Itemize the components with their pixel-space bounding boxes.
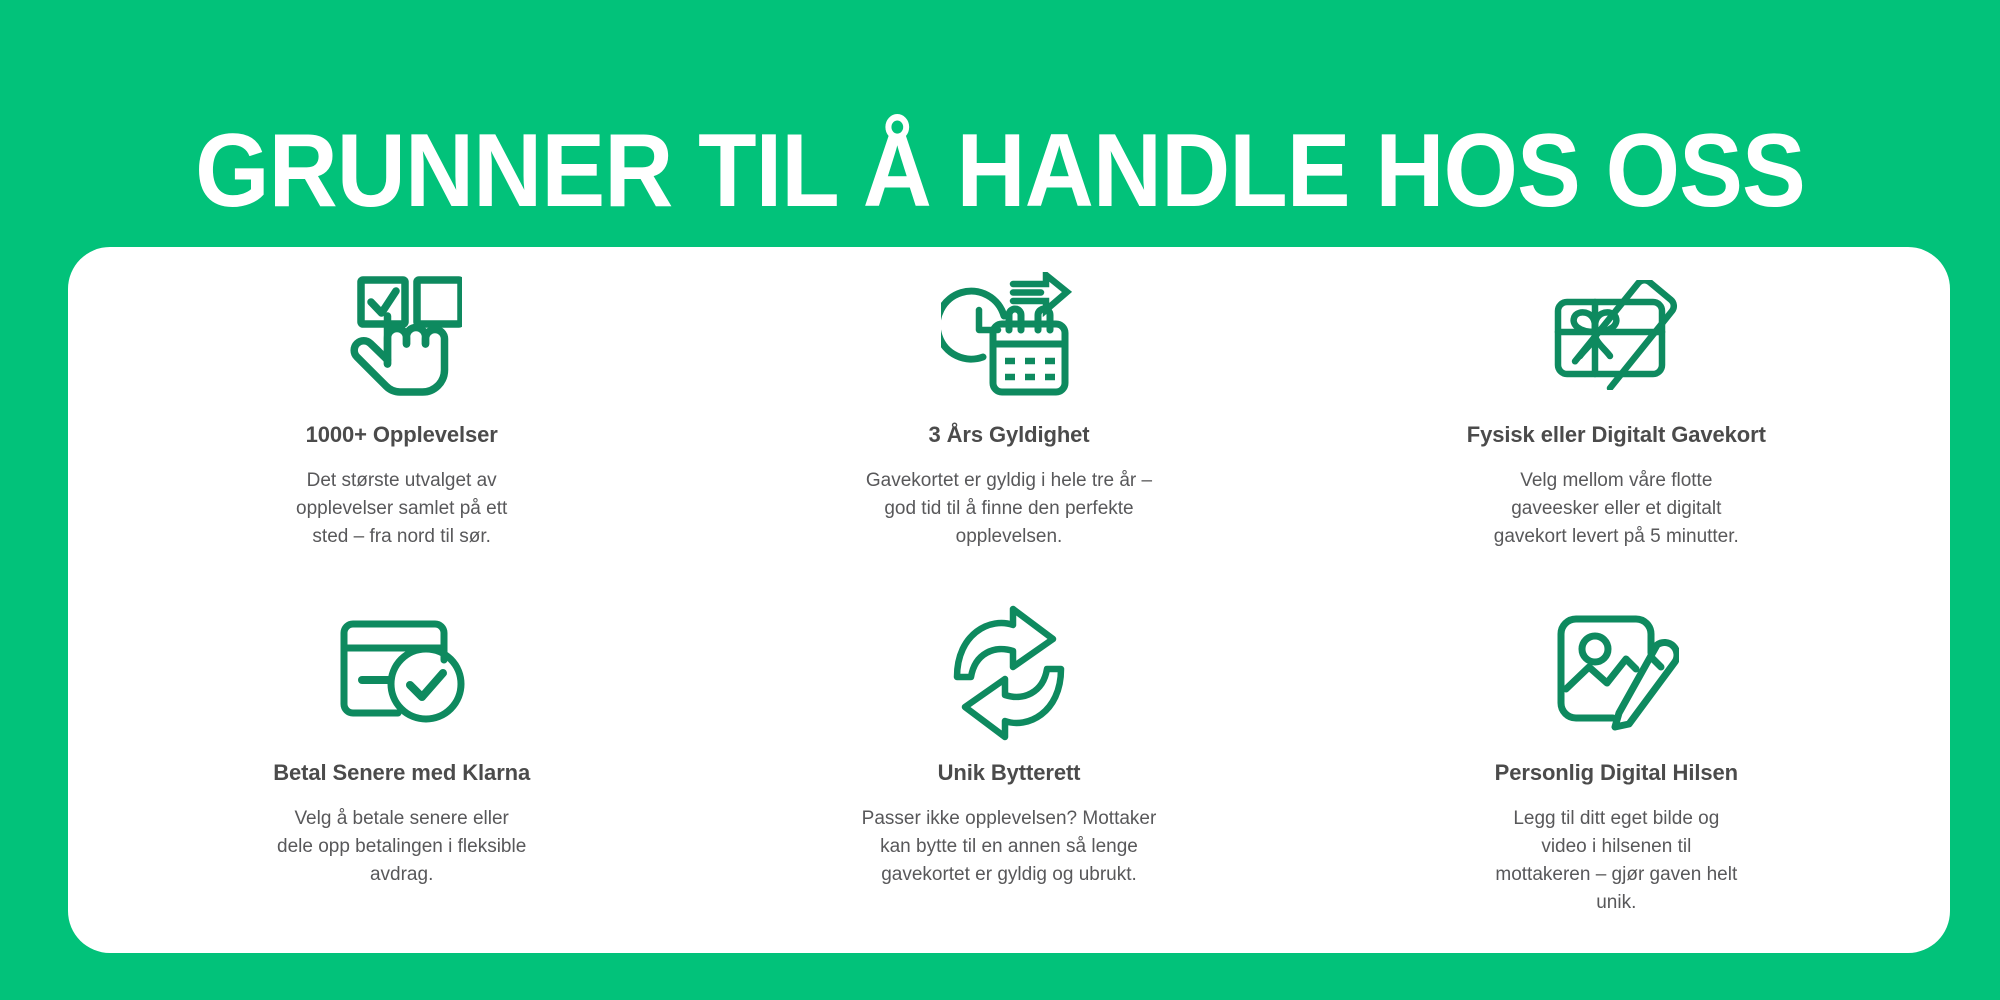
features-grid: 1000+ Opplevelser Det største utvalget a… bbox=[68, 247, 1950, 953]
feature-title: 1000+ Opplevelser bbox=[306, 421, 498, 449]
feature-card: Betal Senere med Klarna Velg å betale se… bbox=[98, 601, 705, 945]
feature-title: 3 Års Gyldighet bbox=[928, 421, 1089, 449]
feature-card: Fysisk eller Digitalt Gavekort Velg mell… bbox=[1313, 257, 1920, 601]
features-panel: 1000+ Opplevelser Det største utvalget a… bbox=[68, 247, 1950, 953]
feature-card: Personlig Digital Hilsen Legg til ditt e… bbox=[1313, 601, 1920, 945]
feature-title: Personlig Digital Hilsen bbox=[1495, 759, 1738, 787]
feature-description: Velg mellom våre flotte gaveesker eller … bbox=[1491, 467, 1741, 551]
credit-card-check-icon bbox=[336, 607, 468, 739]
feature-description: Legg til ditt eget bilde og video i hils… bbox=[1491, 805, 1741, 917]
feature-description: Passer ikke opplevelsen? Mottaker kan by… bbox=[859, 805, 1159, 889]
feature-description: Det største utvalget av opplevelser saml… bbox=[277, 467, 527, 551]
image-pencil-icon bbox=[1553, 607, 1679, 739]
promo-banner: GRUNNER TIL Å HANDLE HOS OSS 1000+ Op bbox=[0, 0, 2000, 1000]
feature-title: Fysisk eller Digitalt Gavekort bbox=[1467, 421, 1766, 449]
click-checkbox-icon bbox=[342, 269, 462, 401]
feature-card: 1000+ Opplevelser Det største utvalget a… bbox=[98, 257, 705, 601]
feature-description: Velg å betale senere eller dele opp beta… bbox=[277, 805, 527, 889]
feature-description: Gavekortet er gyldig i hele tre år – god… bbox=[859, 467, 1159, 551]
exchange-arrows-icon bbox=[949, 607, 1069, 739]
gift-card-icon bbox=[1548, 269, 1684, 401]
feature-title: Betal Senere med Klarna bbox=[273, 759, 530, 787]
feature-card: Unik Bytterett Passer ikke opplevelsen? … bbox=[705, 601, 1312, 945]
feature-title: Unik Bytterett bbox=[938, 759, 1081, 787]
page-title: GRUNNER TIL Å HANDLE HOS OSS bbox=[80, 116, 1920, 226]
clock-calendar-arrow-icon bbox=[941, 269, 1077, 401]
feature-card: 3 Års Gyldighet Gavekortet er gyldig i h… bbox=[705, 257, 1312, 601]
